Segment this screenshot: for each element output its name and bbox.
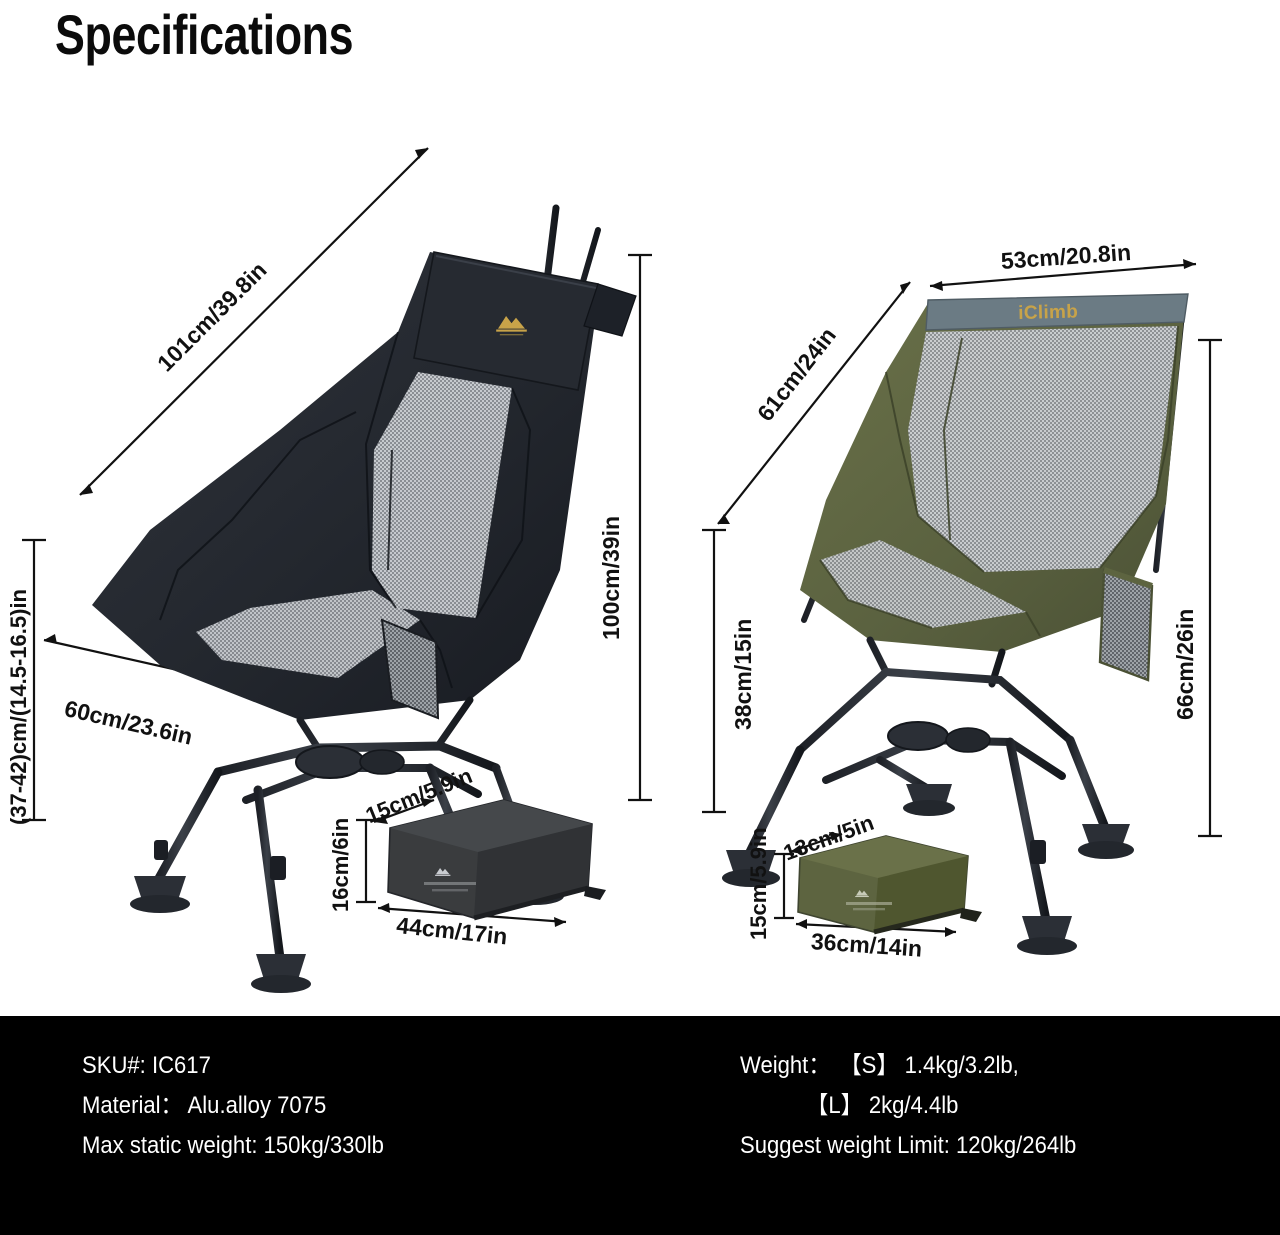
- dimlabel-small-seatheight: 38cm/15in: [730, 619, 757, 730]
- spec-weight-label: Weight：: [740, 1052, 830, 1079]
- small-chair-illustration: [702, 259, 1222, 955]
- spec-sku-line: SKU#: IC617: [82, 1046, 384, 1086]
- spec-suggest-limit-line: Suggest weight Limit: 120kg/264lb: [740, 1126, 1076, 1166]
- dimlabel-large-totalheight: 100cm/39in: [598, 516, 625, 640]
- product-figure: iClimb 101cm/39.8in 60cm/23.6in (37-42)c…: [0, 100, 1280, 1016]
- product-illustration: [0, 100, 1280, 1016]
- large-bag-logo-text: [424, 882, 476, 885]
- spec-weight-l-row: 【L】 2kg/4.4lb: [740, 1086, 1076, 1126]
- dimlabel-small-totalheight: 66cm/26in: [1172, 609, 1199, 720]
- spec-column-right: Weight：【S】 1.4kg/3.2lb, 【L】 2kg/4.4lb Su…: [740, 1046, 1106, 1166]
- large-bag-logo-subtext: [432, 889, 468, 891]
- dimline-large-totalheight: [628, 255, 652, 800]
- large-carry-bag-handle: [584, 886, 606, 900]
- small-bag-logo-subtext: [853, 908, 885, 910]
- dimline-small-totalheight: [1198, 340, 1222, 836]
- spec-weight-s-row: Weight：【S】 1.4kg/3.2lb,: [740, 1046, 1076, 1086]
- small-bag-logo-text: [846, 902, 892, 905]
- page-title: Specifications: [55, 2, 353, 67]
- specification-image: Specifications: [0, 0, 1280, 1235]
- spec-max-static-weight-line: Max static weight: 150kg/330lb: [82, 1126, 384, 1166]
- specification-panel: SKU#: IC617 Material： Alu.alloy 7075 Max…: [0, 1016, 1280, 1235]
- spec-weight-small: 【S】 1.4kg/3.2lb,: [840, 1052, 1019, 1079]
- spec-material-line: Material： Alu.alloy 7075: [82, 1086, 384, 1126]
- dimline-small-seatheight: [702, 530, 726, 812]
- dimlabel-smallbag-height: 15cm/5.9in: [746, 827, 772, 940]
- dimlabel-largebag-height: 16cm/6in: [328, 818, 354, 912]
- dimline-largebag-height: [356, 820, 376, 902]
- spec-weight-large: 【L】 2kg/4.4lb: [806, 1092, 958, 1119]
- small-carry-bag-handle: [960, 908, 982, 922]
- dimlabel-large-seatheight: (37-42)cm/(14.5-16.5)in: [6, 589, 32, 825]
- iclimb-brand-logo: iClimb: [1018, 301, 1078, 325]
- spec-column-left: SKU#: IC617 Material： Alu.alloy 7075 Max…: [82, 1046, 410, 1166]
